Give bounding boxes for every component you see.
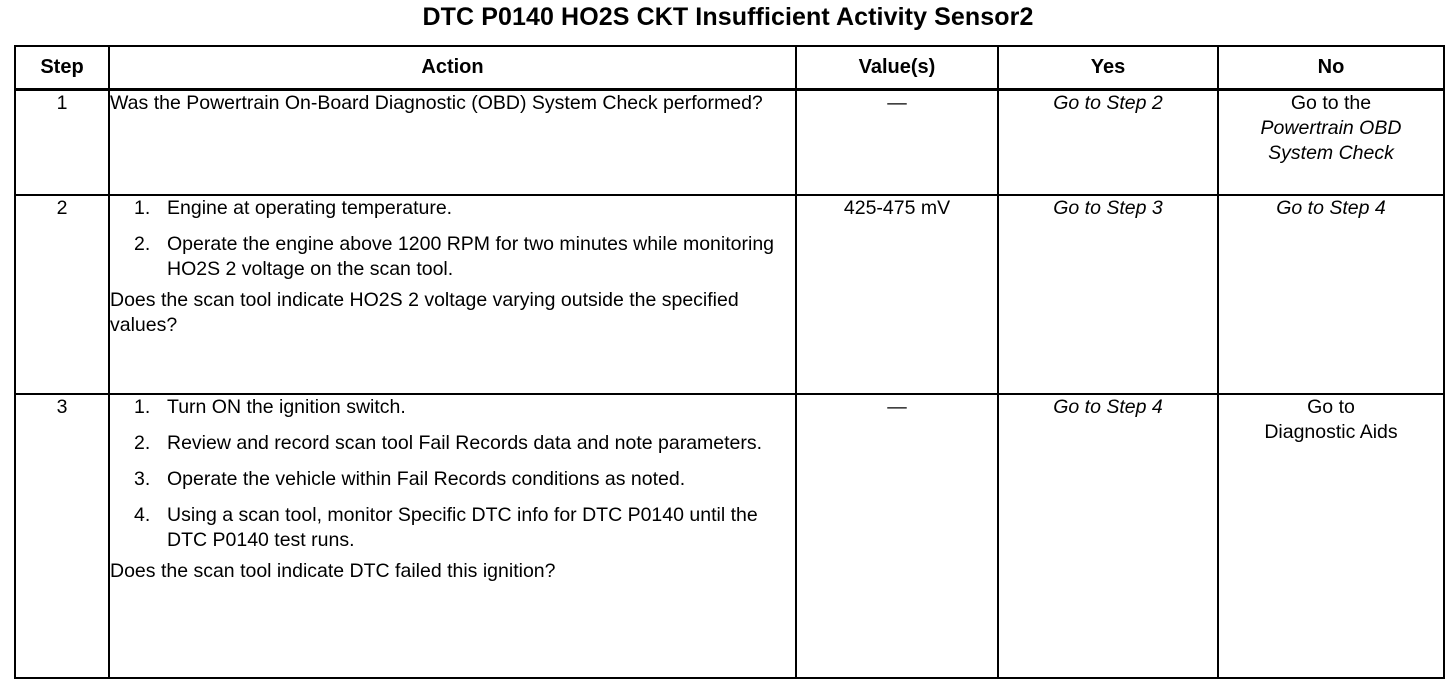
- yes-cell: Go to Step 4: [998, 394, 1218, 678]
- no-cell-line: System Check: [1219, 141, 1443, 166]
- column-header-no: No: [1218, 46, 1444, 90]
- step-number-cell: 3: [15, 394, 109, 678]
- action-cell: Was the Powertrain On-Board Diagnostic (…: [109, 90, 796, 196]
- no-cell-line: Go to the: [1219, 91, 1443, 116]
- column-header-value: Value(s): [796, 46, 998, 90]
- action-step-number: 4.: [134, 503, 160, 528]
- action-step-text: Using a scan tool, monitor Specific DTC …: [167, 504, 758, 551]
- action-question-text: Was the Powertrain On-Board Diagnostic (…: [110, 91, 795, 116]
- diagnostic-table-page: DTC P0140 HO2S CKT Insufficient Activity…: [0, 0, 1456, 690]
- action-step-text: Operate the vehicle within Fail Records …: [167, 468, 685, 490]
- action-question-text: Does the scan tool indicate DTC failed t…: [110, 559, 795, 584]
- table-row: 1Was the Powertrain On-Board Diagnostic …: [15, 90, 1444, 196]
- no-cell-line: Diagnostic Aids: [1219, 420, 1443, 445]
- action-step-text: Operate the engine above 1200 RPM for tw…: [167, 233, 774, 280]
- no-cell-line: Go to: [1219, 395, 1443, 420]
- yes-cell: Go to Step 3: [998, 195, 1218, 394]
- action-step-item: 4.Using a scan tool, monitor Specific DT…: [110, 503, 795, 553]
- action-step-item: 1.Engine at operating temperature.: [110, 196, 795, 221]
- action-steps-list: 1.Turn ON the ignition switch.2.Review a…: [110, 395, 795, 553]
- value-cell: 425-475 mV: [796, 195, 998, 394]
- action-cell: 1.Turn ON the ignition switch.2.Review a…: [109, 394, 796, 678]
- action-step-item: 3.Operate the vehicle within Fail Record…: [110, 467, 795, 492]
- action-step-item: 2.Operate the engine above 1200 RPM for …: [110, 232, 795, 282]
- action-steps-list: 1.Engine at operating temperature.2.Oper…: [110, 196, 795, 282]
- action-cell: 1.Engine at operating temperature.2.Oper…: [109, 195, 796, 394]
- action-step-number: 1.: [134, 395, 160, 420]
- value-cell: —: [796, 90, 998, 196]
- column-header-yes: Yes: [998, 46, 1218, 90]
- value-text: —: [887, 398, 907, 418]
- action-step-number: 2.: [134, 232, 160, 257]
- table-header-row: Step Action Value(s) Yes No: [15, 46, 1444, 90]
- no-cell: Go toDiagnostic Aids: [1218, 394, 1444, 678]
- table-row: 31.Turn ON the ignition switch.2.Review …: [15, 394, 1444, 678]
- action-step-text: Engine at operating temperature.: [167, 197, 452, 219]
- yes-cell-line: Go to Step 4: [999, 395, 1217, 420]
- table-body: 1Was the Powertrain On-Board Diagnostic …: [15, 90, 1444, 679]
- diagnostic-steps-table: Step Action Value(s) Yes No 1Was the Pow…: [14, 45, 1445, 679]
- step-number-cell: 2: [15, 195, 109, 394]
- action-step-number: 1.: [134, 196, 160, 221]
- yes-cell: Go to Step 2: [998, 90, 1218, 196]
- action-step-number: 2.: [134, 431, 160, 456]
- value-text: —: [887, 94, 907, 114]
- yes-cell-line: Go to Step 2: [999, 91, 1217, 116]
- yes-cell-line: Go to Step 3: [999, 196, 1217, 221]
- column-header-step: Step: [15, 46, 109, 90]
- table-row: 21.Engine at operating temperature.2.Ope…: [15, 195, 1444, 394]
- action-question-text: Does the scan tool indicate HO2S 2 volta…: [110, 288, 795, 338]
- page-title: DTC P0140 HO2S CKT Insufficient Activity…: [0, 2, 1456, 32]
- action-step-text: Review and record scan tool Fail Records…: [167, 432, 762, 454]
- column-header-action: Action: [109, 46, 796, 90]
- action-step-text: Turn ON the ignition switch.: [167, 396, 406, 418]
- no-cell: Go to thePowertrain OBDSystem Check: [1218, 90, 1444, 196]
- no-cell-line: Powertrain OBD: [1219, 116, 1443, 141]
- no-cell: Go to Step 4: [1218, 195, 1444, 394]
- action-step-number: 3.: [134, 467, 160, 492]
- value-text: 425-475 mV: [844, 199, 950, 219]
- no-cell-line: Go to Step 4: [1219, 196, 1443, 221]
- value-cell: —: [796, 394, 998, 678]
- step-number-cell: 1: [15, 90, 109, 196]
- action-step-item: 1.Turn ON the ignition switch.: [110, 395, 795, 420]
- action-step-item: 2.Review and record scan tool Fail Recor…: [110, 431, 795, 456]
